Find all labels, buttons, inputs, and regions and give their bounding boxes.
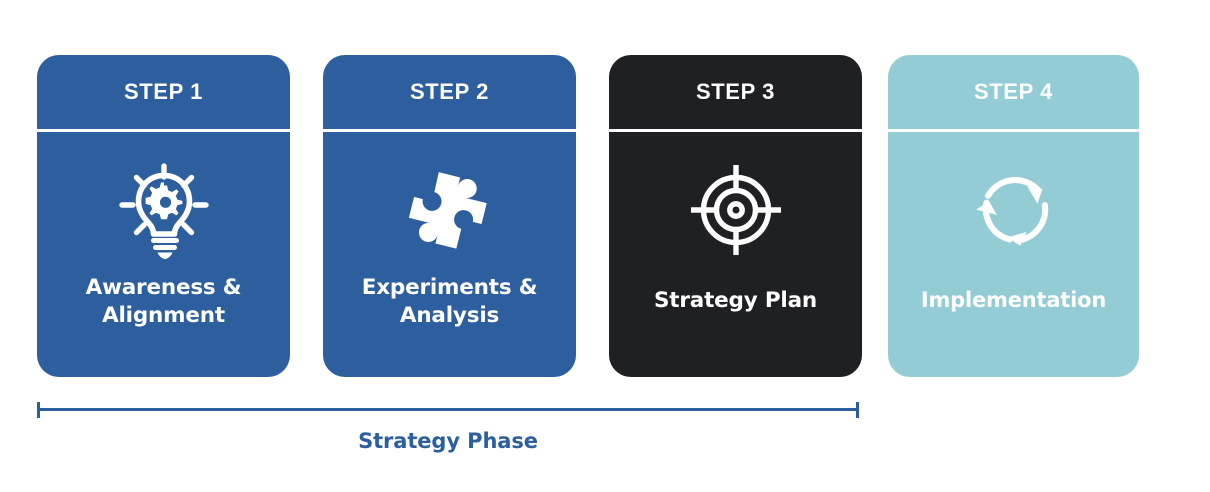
step-card-2[interactable]: STEP 2 Experiments & Analysis [323,55,576,377]
lightbulb-gear-icon [37,160,290,260]
step-card-1-body: Awareness & Alignment [37,132,290,377]
step-card-3[interactable]: STEP 3 [609,55,862,377]
step-card-2-header: STEP 2 [323,55,576,129]
process-steps-diagram: STEP 1 [0,0,1210,492]
step-card-3-header: STEP 3 [609,55,862,129]
bracket-cap-right [856,402,859,418]
step-card-2-body: Experiments & Analysis [323,132,576,377]
step-card-2-step-label: STEP 2 [410,81,489,103]
step-card-3-title: Strategy Plan [619,287,852,315]
bracket-bar [37,408,859,411]
strategy-phase-label: Strategy Phase [37,431,859,452]
steps-container: STEP 1 [0,55,1210,377]
step-card-1[interactable]: STEP 1 [37,55,290,377]
step-card-4-title: Implementation [898,287,1129,314]
step-card-3-step-label: STEP 3 [696,81,775,103]
recycle-cycle-icon [888,160,1139,260]
step-card-4-body: Implementation [888,132,1139,377]
step-card-1-header: STEP 1 [37,55,290,129]
step-card-4[interactable]: STEP 4 [888,55,1139,377]
step-card-3-body: Strategy Plan [609,132,862,377]
step-card-2-title: Experiments & Analysis [333,274,566,329]
step-card-4-step-label: STEP 4 [974,81,1053,103]
step-card-1-title: Awareness & Alignment [47,274,280,329]
step-card-1-step-label: STEP 1 [124,81,203,103]
crosshair-target-icon [609,160,862,260]
step-card-4-header: STEP 4 [888,55,1139,129]
puzzle-piece-icon [323,160,576,260]
strategy-phase-bracket [37,402,859,418]
